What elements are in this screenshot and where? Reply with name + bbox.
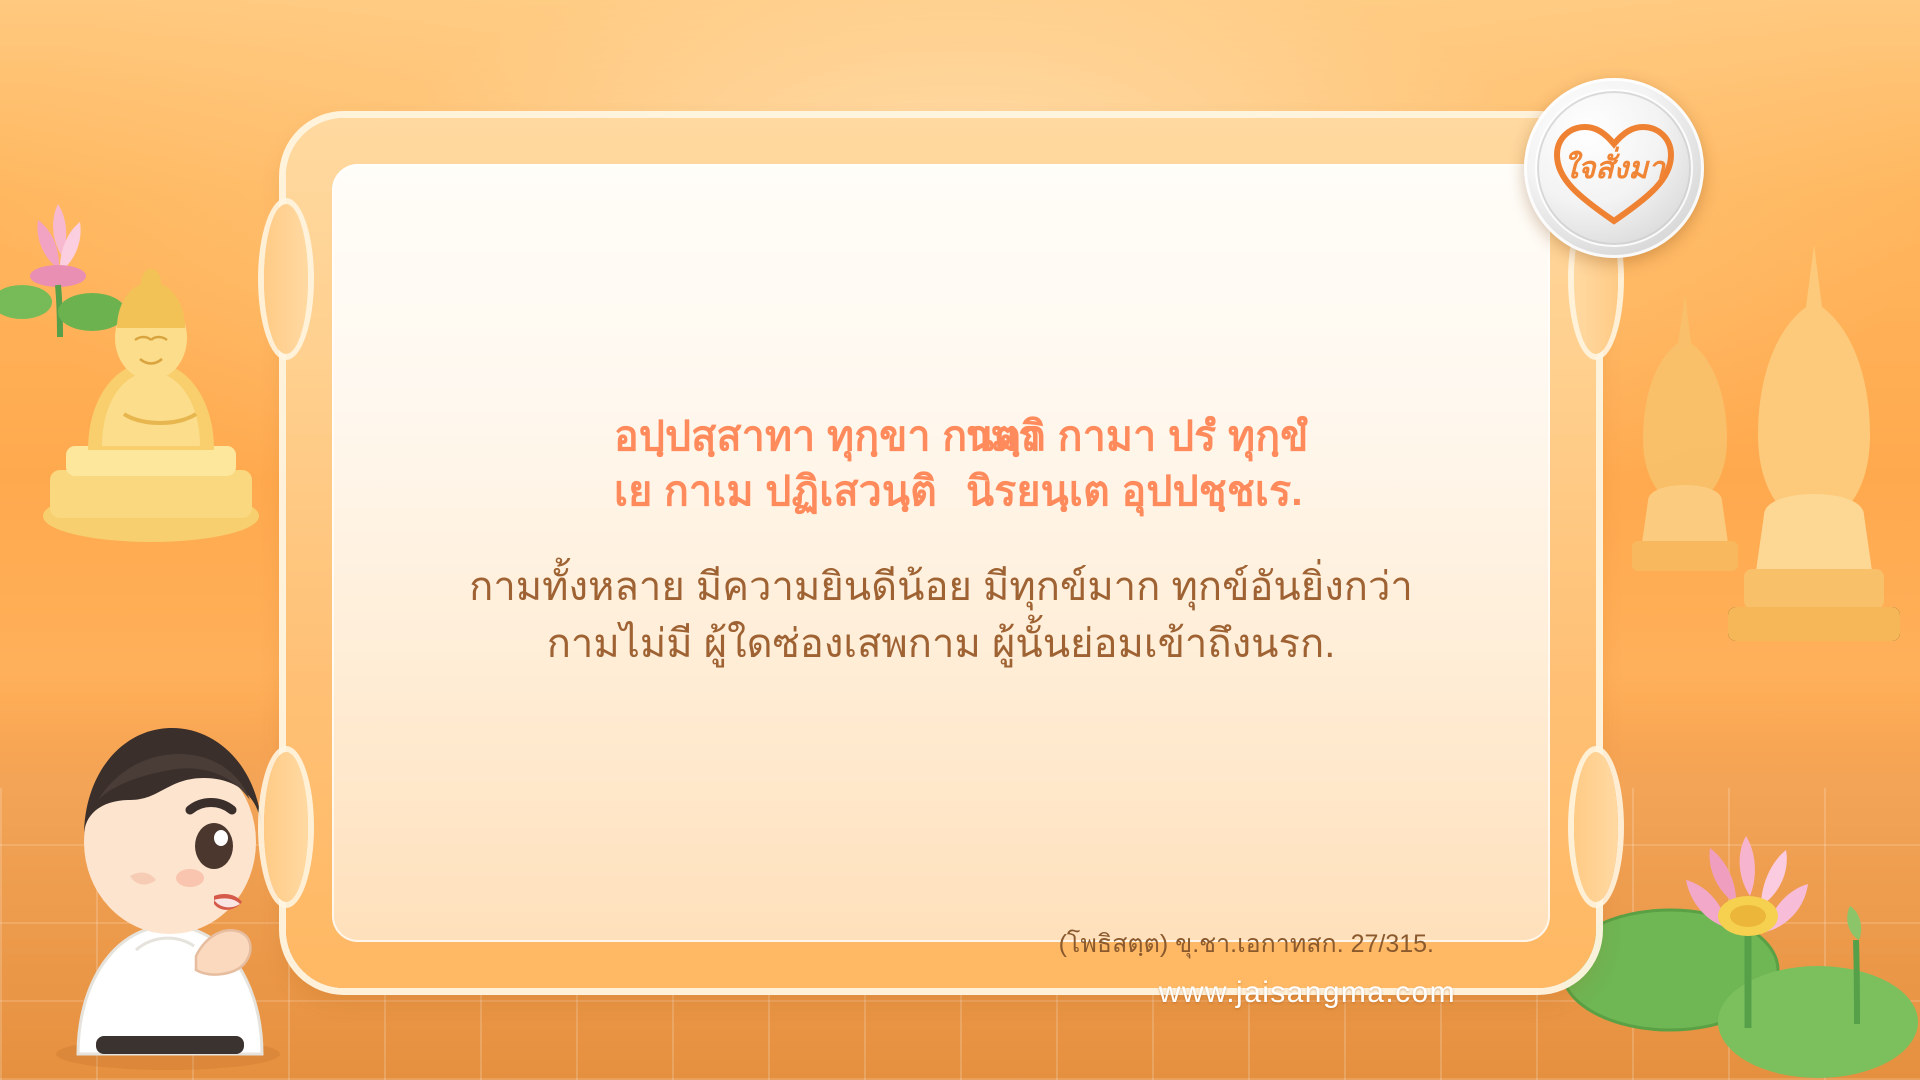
pali-line-1-right: นตฺถิ กามา ปรํ ทุกฺขํ xyxy=(966,409,1386,464)
brand-logo-badge[interactable]: ใจสั่งมา xyxy=(1524,78,1704,258)
quote-content: อปฺปสฺสาทา ทุกฺขา กามา นตฺถิ กามา ปรํ ทุ… xyxy=(332,164,1550,942)
quote-card-canvas: อปฺปสฺสาทา ทุกฺขา กามา นตฺถิ กามา ปรํ ทุ… xyxy=(0,0,1920,1080)
website-url[interactable]: www.jaisangma.com xyxy=(1159,976,1456,1010)
thai-translation: กามทั้งหลาย มีความยินดีน้อย มีทุกข์มาก ท… xyxy=(332,559,1550,673)
quote-panel: อปฺปสฺสาทา ทุกฺขา กามา นตฺถิ กามา ปรํ ทุ… xyxy=(332,164,1550,942)
logo-label: ใจสั่งมา xyxy=(1539,145,1689,192)
pali-line-1-left: อปฺปสฺสาทา ทุกฺขา กามา xyxy=(496,409,966,464)
pali-line-2-right: นิรยนฺเต อุปปชฺชเร. xyxy=(966,464,1386,519)
pali-verse: อปฺปสฺสาทา ทุกฺขา กามา นตฺถิ กามา ปรํ ทุ… xyxy=(332,409,1550,519)
logo-inner: ใจสั่งมา xyxy=(1539,93,1689,243)
buddha-statue-illustration xyxy=(36,218,266,548)
translation-line-2: กามไม่มี ผู้ใดซ่องเสพกาม ผู้นั้นย่อมเข้า… xyxy=(332,616,1550,673)
decorative-frame: อปฺปสฺสาทา ทุกฺขา กามา นตฺถิ กามา ปรํ ทุ… xyxy=(286,118,1596,988)
translation-line-1: กามทั้งหลาย มีความยินดีน้อย มีทุกข์มาก ท… xyxy=(332,559,1550,616)
pali-line-1: อปฺปสฺสาทา ทุกฺขา กามา นตฺถิ กามา ปรํ ทุ… xyxy=(332,409,1550,464)
pali-line-2-left: เย กาเม ปฏิเสวนฺติ xyxy=(496,464,966,519)
scripture-citation: (โพธิสตฺต) ขุ.ชา.เอกาทสก. 27/315. xyxy=(1059,924,1434,964)
frame-lobe-bottom-left xyxy=(264,752,308,902)
frame-lobe-bottom-right xyxy=(1574,752,1618,902)
pali-line-2: เย กาเม ปฏิเสวนฺติ นิรยนฺเต อุปปชฺชเร. xyxy=(332,464,1550,519)
